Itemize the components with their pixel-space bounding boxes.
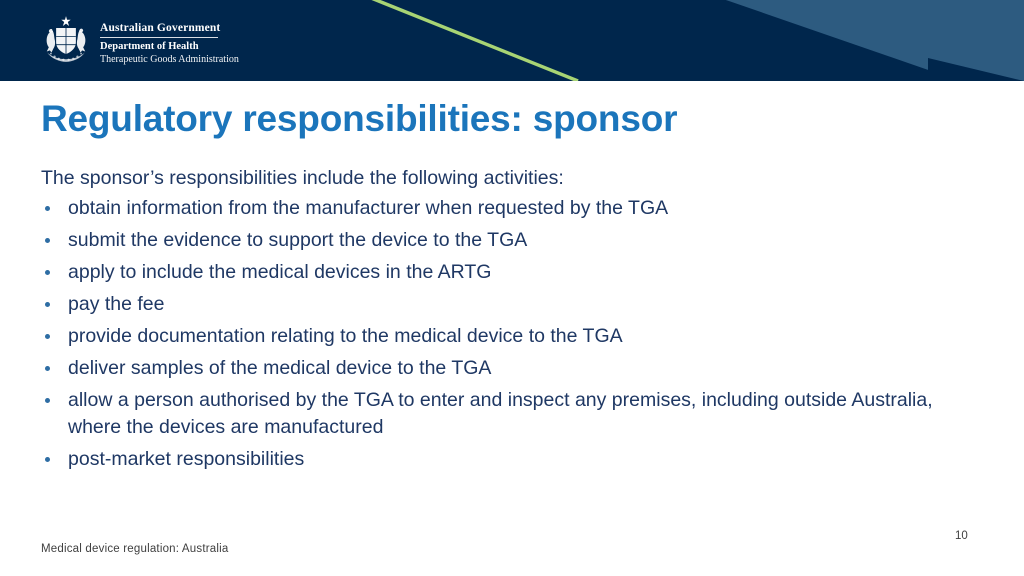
australian-coat-of-arms-icon bbox=[40, 15, 92, 65]
logo-text-block: Australian Government Department of Heal… bbox=[100, 15, 239, 66]
list-item-label: post-market responsibilities bbox=[68, 448, 304, 470]
list-item-label: obtain information from the manufacturer… bbox=[68, 197, 668, 219]
list-item-label: pay the fee bbox=[68, 293, 165, 315]
logo-line-australian-government: Australian Government bbox=[100, 22, 239, 35]
list-item: provide documentation relating to the me… bbox=[41, 323, 971, 350]
slide-canvas: Australian Government Department of Heal… bbox=[0, 0, 1024, 576]
header-accent-line bbox=[371, 0, 578, 81]
list-item: deliver samples of the medical device to… bbox=[41, 355, 971, 382]
bullet-dot-icon bbox=[45, 238, 50, 243]
slide-header-band: Australian Government Department of Heal… bbox=[0, 0, 1024, 81]
list-item: post-market responsibilities bbox=[41, 446, 971, 473]
list-item-label: provide documentation relating to the me… bbox=[68, 325, 623, 347]
logo-line-department-of-health: Department of Health bbox=[100, 40, 239, 53]
list-item: apply to include the medical devices in … bbox=[41, 259, 971, 286]
page-title: Regulatory responsibilities: sponsor bbox=[41, 97, 677, 141]
logo-line-therapeutic-goods-administration: Therapeutic Goods Administration bbox=[100, 53, 239, 66]
list-item: obtain information from the manufacturer… bbox=[41, 195, 971, 222]
footer-label: Medical device regulation: Australia bbox=[41, 542, 228, 556]
page-number: 10 bbox=[955, 529, 985, 543]
list-item-label: apply to include the medical devices in … bbox=[68, 261, 491, 283]
list-item: submit the evidence to support the devic… bbox=[41, 227, 971, 254]
bullet-dot-icon bbox=[45, 302, 50, 307]
slide-body: The sponsor’s responsibilities include t… bbox=[41, 162, 971, 478]
government-logo-lockup: Australian Government Department of Heal… bbox=[40, 15, 239, 66]
responsibilities-bullet-list: obtain information from the manufacturer… bbox=[41, 195, 971, 473]
list-item: allow a person authorised by the TGA to … bbox=[41, 387, 971, 441]
bullet-dot-icon bbox=[45, 366, 50, 371]
header-accent-triangle-fill bbox=[726, 0, 1024, 81]
intro-paragraph: The sponsor’s responsibilities include t… bbox=[41, 162, 971, 194]
list-item-label: deliver samples of the medical device to… bbox=[68, 357, 491, 379]
bullet-dot-icon bbox=[45, 334, 50, 339]
list-item-label: submit the evidence to support the devic… bbox=[68, 229, 527, 251]
bullet-dot-icon bbox=[45, 270, 50, 275]
list-item-label: allow a person authorised by the TGA to … bbox=[68, 389, 933, 438]
list-item: pay the fee bbox=[41, 291, 971, 318]
bullet-dot-icon bbox=[45, 398, 50, 403]
bullet-dot-icon bbox=[45, 457, 50, 462]
logo-divider-rule bbox=[100, 37, 218, 38]
bullet-dot-icon bbox=[45, 206, 50, 211]
